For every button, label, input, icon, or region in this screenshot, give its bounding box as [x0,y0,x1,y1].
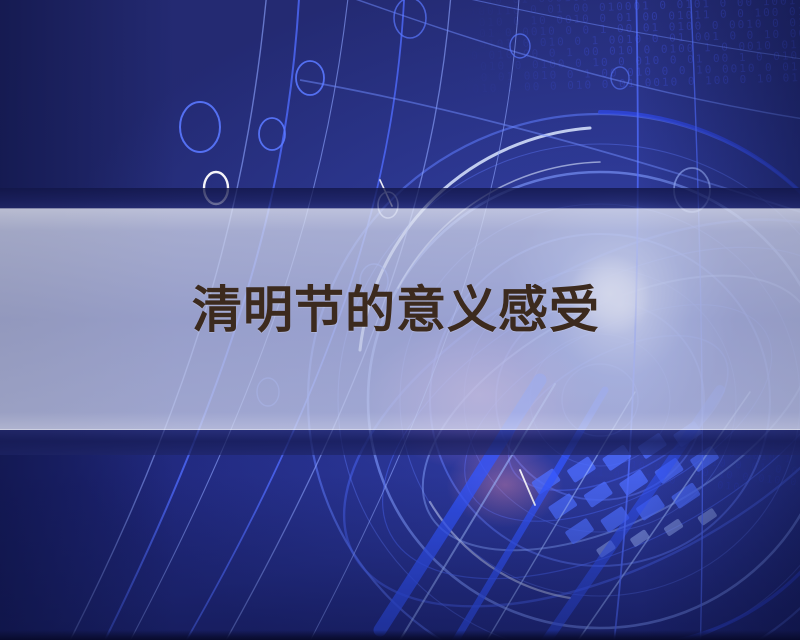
band-stripe-bottom [0,430,800,455]
banner-canvas: 0 10 0010 01 000100 110 0 0110 0 010 100… [0,0,800,640]
band-stripe-top [0,188,800,209]
banner-title: 清明节的意义感受 [192,285,600,335]
bottom-shadow [0,630,800,640]
